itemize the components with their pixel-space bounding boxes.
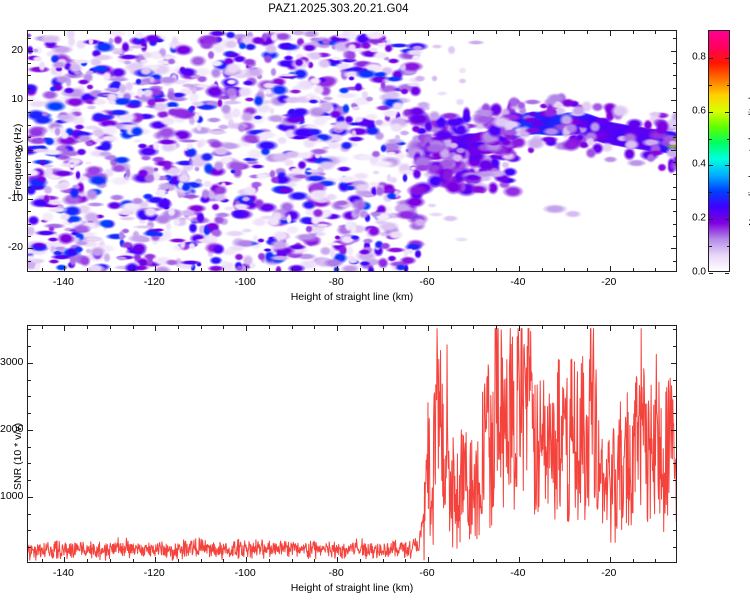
spectrogram-xtick-major-top (246, 31, 247, 36)
spectrogram-noise-blob (74, 124, 85, 130)
colorbar-tick-minor (709, 139, 712, 140)
spectrogram-noise-blob (436, 91, 448, 95)
spectrogram-onset-cloud (428, 110, 441, 122)
spectrogram-xtick-minor (178, 268, 179, 271)
spectrogram-noise-blob (458, 67, 467, 74)
spectrogram-noise-blob (79, 255, 92, 266)
spectrogram-xtick-label: -100 (235, 276, 256, 288)
spectrogram-noise-blob (207, 265, 225, 271)
spectrogram-xtick-minor-top (292, 31, 293, 34)
spectrogram-noise-blob (48, 226, 55, 231)
snr-xtick-major-top (519, 326, 520, 331)
snr-xtick-major (610, 557, 611, 562)
spectrogram-noise-blob (211, 203, 219, 211)
snr-xtick-minor (110, 559, 111, 562)
spectrogram-ytick-minor-right (673, 236, 676, 237)
snr-xtick-major (155, 557, 156, 562)
spectrogram-xtick-major-top (519, 31, 520, 36)
snr-ytick-minor-right (673, 396, 676, 397)
spectrogram-noise-blob (340, 141, 353, 150)
spectrogram-xtick-minor (542, 268, 543, 271)
spectrogram-noise-blob (181, 183, 191, 192)
spectrogram-ytick-minor (28, 261, 31, 262)
spectrogram-noise-blob (168, 107, 192, 120)
spectrogram-xtick-major-top (64, 31, 65, 36)
spectrogram-noise-blob (226, 79, 237, 86)
snr-xtick-major (337, 557, 338, 562)
snr-xtick-label: -40 (510, 567, 525, 579)
spectrogram-noise-blob (155, 198, 173, 210)
spectrogram-xtick-minor (496, 268, 497, 271)
spectrogram-noise-blob (53, 246, 66, 250)
colorbar-tick-label: 0.8 (686, 51, 706, 62)
snr-xtick-label: -80 (328, 567, 343, 579)
snr-xtick-minor-top (496, 326, 497, 329)
snr-xtick-major-top (155, 326, 156, 331)
spectrogram-noise-blob (385, 76, 404, 82)
spectrogram-noise-blob (318, 100, 334, 112)
spectrogram-noise-blob (163, 160, 172, 171)
spectrogram-xtick-minor-top (87, 31, 88, 34)
spectrogram-noise-blob (188, 242, 196, 249)
spectrogram-noise-blob (253, 115, 263, 120)
spectrogram-noise-blob (275, 265, 282, 271)
snr-ytick-minor-right (673, 530, 676, 531)
snr-ytick-major (28, 363, 33, 364)
spectrogram-noise-blob (407, 248, 414, 256)
spectrogram-noise-blob (311, 118, 329, 124)
spectrogram-noise-blob (55, 264, 68, 271)
spectrogram-noise-blob (44, 137, 55, 146)
spectrogram-noise-blob (348, 48, 369, 52)
spectrogram-noise-blob (118, 216, 137, 221)
snr-xtick-minor (42, 559, 43, 562)
spectrogram-onset-cloud (414, 164, 432, 172)
snr-xtick-minor (587, 559, 588, 562)
spectrogram-noise-blob (262, 82, 274, 89)
spectrogram-ytick-minor-right (673, 137, 676, 138)
spectrogram-noise-blob (206, 117, 222, 123)
spectrogram-noise-blob (166, 90, 177, 100)
spectrogram-panel (27, 30, 677, 272)
spectrogram-xaxis-title: Height of straight line (km) (291, 291, 414, 303)
spectrogram-noise-blob (236, 265, 243, 271)
spectrogram-xtick-major (610, 266, 611, 271)
spectrogram-noise-blob (297, 151, 315, 161)
spectrogram-ytick-minor (28, 125, 31, 126)
snr-xtick-major-top (610, 326, 611, 331)
snr-xtick-minor-top (633, 326, 634, 329)
spectrogram-noise-blob (312, 189, 328, 198)
spectrogram-noise-blob (87, 175, 110, 186)
snr-xtick-minor (133, 559, 134, 562)
spectrogram-ytick-label: 10 (0, 93, 23, 105)
snr-ytick-minor (28, 547, 31, 548)
spectrogram-noise-blob (263, 54, 273, 64)
spectrogram-onset-cloud (461, 113, 472, 124)
spectrogram-xtick-minor (383, 268, 384, 271)
spectrogram-noise-blob (335, 200, 349, 206)
spectrogram-xtick-label: -60 (419, 276, 434, 288)
colorbar-tick-minor (709, 85, 712, 86)
spectrogram-noise-blob (41, 211, 55, 223)
spectrogram-signal-cloud (603, 156, 619, 162)
spectrogram-signal-cloud (655, 119, 670, 133)
colorbar-tick-label: 0.4 (686, 159, 706, 170)
spectrogram-noise-blob (346, 245, 353, 257)
snr-ytick-minor (28, 396, 31, 397)
spectrogram-noise-blob (225, 160, 248, 172)
spectrogram-xtick-major (428, 266, 429, 271)
spectrogram-xtick-label: -140 (53, 276, 74, 288)
colorbar-tick-minor (709, 246, 712, 247)
spectrogram-noise-blob (68, 163, 76, 169)
spectrogram-noise-blob (118, 230, 125, 242)
spectrogram-xtick-minor-top (564, 31, 565, 34)
spectrogram-noise-blob (322, 96, 334, 101)
spectrogram-ytick-major (28, 150, 33, 151)
snr-xtick-minor-top (542, 326, 543, 329)
snr-ytick-major-right (671, 363, 676, 364)
snr-trace (28, 329, 676, 561)
snr-xtick-minor-top (292, 326, 293, 329)
spectrogram-noise-blob (39, 35, 62, 44)
spectrogram-noise-blob (307, 135, 320, 141)
spectrogram-noise-blob (220, 260, 229, 266)
spectrogram-noise-blob (40, 160, 47, 165)
spectrogram-ytick-major-right (671, 248, 676, 249)
colorbar-tick-label: 0.0 (686, 267, 706, 278)
spectrogram-xtick-minor (314, 268, 315, 271)
spectrogram-onset-cloud (451, 153, 464, 164)
spectrogram-noise-blob (399, 63, 406, 72)
snr-xtick-major-top (64, 326, 65, 331)
snr-line-path (28, 326, 676, 562)
snr-xtick-minor (496, 559, 497, 562)
snr-xtick-minor-top (587, 326, 588, 329)
spectrogram-ytick-minor-right (673, 112, 676, 113)
spectrogram-onset-cloud (423, 143, 447, 154)
spectrogram-noise-blob (165, 222, 172, 231)
spectrogram-noise-blob (380, 242, 391, 249)
spectrogram-ytick-major (28, 199, 33, 200)
spectrogram-noise-blob (431, 75, 438, 81)
spectrogram-noise-blob (264, 43, 278, 55)
snr-ytick-minor (28, 380, 31, 381)
spectrogram-xtick-minor-top (655, 31, 656, 34)
spectrogram-noise-blob (255, 173, 269, 180)
snr-xtick-minor-top (655, 326, 656, 329)
spectrogram-noise-blob (167, 58, 176, 64)
spectrogram-xtick-minor-top (360, 31, 361, 34)
spectrogram-noise-blob (196, 123, 202, 132)
spectrogram-noise-blob (387, 58, 401, 64)
spectrogram-noise-blob (367, 265, 376, 271)
spectrogram-ytick-minor-right (673, 125, 676, 126)
spectrogram-xtick-label: -20 (601, 276, 616, 288)
spectrogram-noise-blob (109, 194, 125, 202)
spectrogram-noise-blob (140, 155, 152, 160)
spectrogram-image (28, 31, 676, 271)
snr-ytick-major-right (671, 430, 676, 431)
spectrogram-xtick-major-top (428, 31, 429, 36)
spectrogram-noise-blob (165, 259, 178, 266)
colorbar-tick-minor (709, 192, 712, 193)
spectrogram-noise-blob (30, 258, 45, 264)
snr-xtick-minor (314, 559, 315, 562)
spectrogram-ytick-minor-right (673, 75, 676, 76)
snr-xtick-label: -100 (235, 567, 256, 579)
spectrogram-xtick-minor-top (633, 31, 634, 34)
spectrogram-noise-blob (348, 76, 355, 81)
spectrogram-xtick-minor-top (201, 31, 202, 34)
spectrogram-xtick-label: -120 (144, 276, 165, 288)
snr-ytick-minor-right (673, 346, 676, 347)
spectrogram-noise-blob (342, 103, 349, 114)
spectrogram-xtick-major (64, 266, 65, 271)
spectrogram-signal-cloud (585, 147, 597, 159)
spectrogram-noise-blob (207, 130, 227, 135)
spectrogram-noise-blob (351, 106, 361, 111)
spectrogram-noise-blob (196, 140, 203, 150)
snr-ytick-minor (28, 329, 31, 330)
spectrogram-noise-blob (171, 35, 179, 47)
spectrogram-noise-blob (282, 96, 303, 104)
spectrogram-ytick-minor-right (673, 261, 676, 262)
spectrogram-noise-blob (142, 230, 163, 237)
spectrogram-yaxis-title: Frequency (Hz) (12, 124, 24, 196)
spectrogram-xtick-minor-top (451, 31, 452, 34)
spectrogram-ytick-label: 20 (0, 44, 23, 56)
spectrogram-ytick-major-right (671, 150, 676, 151)
spectrogram-noise-blob (380, 144, 386, 154)
spectrogram-xtick-minor-top (314, 31, 315, 34)
spectrogram-noise-blob (179, 260, 201, 265)
snr-xtick-minor (360, 559, 361, 562)
spectrogram-xtick-minor-top (110, 31, 111, 34)
page-title: PAZ1.2025.303.20.21.G04 (0, 3, 677, 15)
spectrogram-noise-blob (305, 225, 313, 233)
snr-xtick-minor-top (473, 326, 474, 329)
spectrogram-noise-blob (86, 105, 97, 110)
spectrogram-noise-blob (253, 95, 264, 106)
spectrogram-ytick-minor (28, 174, 31, 175)
spectrogram-ytick-major-right (671, 100, 676, 101)
spectrogram-noise-blob (372, 170, 380, 175)
spectrogram-noise-blob (30, 148, 51, 153)
spectrogram-noise-blob (351, 129, 357, 138)
spectrogram-noise-blob (365, 96, 375, 102)
snr-xtick-minor (383, 559, 384, 562)
spectrogram-ytick-minor-right (673, 211, 676, 212)
spectrogram-xtick-minor (292, 268, 293, 271)
spectrogram-xtick-minor (633, 268, 634, 271)
spectrogram-ytick-minor (28, 187, 31, 188)
snr-xtick-minor (269, 559, 270, 562)
snr-ytick-minor-right (673, 514, 676, 515)
spectrogram-ytick-minor-right (673, 88, 676, 89)
spectrogram-noise-blob (248, 262, 257, 270)
spectrogram-xtick-minor (223, 268, 224, 271)
snr-xtick-minor (178, 559, 179, 562)
colorbar (708, 30, 730, 272)
spectrogram-noise-blob (250, 181, 263, 188)
snr-ytick-minor (28, 447, 31, 448)
snr-xtick-minor (473, 559, 474, 562)
spectrogram-noise-blob (304, 169, 323, 173)
spectrogram-noise-blob (116, 256, 129, 261)
spectrogram-ytick-minor-right (673, 174, 676, 175)
spectrogram-ytick-major (28, 248, 33, 249)
snr-ytick-minor (28, 413, 31, 414)
snr-xtick-major (64, 557, 65, 562)
spectrogram-noise-blob (350, 235, 360, 240)
spectrogram-noise-blob (405, 49, 424, 56)
spectrogram-noise-blob (142, 51, 152, 59)
spectrogram-ytick-minor (28, 137, 31, 138)
spectrogram-noise-blob (177, 67, 198, 77)
spectrogram-onset-cloud (469, 185, 488, 194)
spectrogram-signal-cloud (625, 118, 644, 129)
spectrogram-xtick-label: -40 (510, 276, 525, 288)
spectrogram-noise-blob (127, 99, 143, 107)
spectrogram-xtick-minor (42, 268, 43, 271)
spectrogram-signal-cloud (646, 153, 655, 163)
spectrogram-noise-blob (277, 42, 292, 50)
colorbar-tick (709, 273, 713, 274)
spectrogram-noise-blob (455, 98, 465, 106)
snr-ytick-minor-right (673, 463, 676, 464)
spectrogram-noise-blob (224, 40, 238, 49)
spectrogram-xtick-minor-top (587, 31, 588, 34)
spectrogram-noise-blob (224, 62, 241, 74)
spectrogram-noise-blob (308, 77, 323, 85)
snr-xtick-minor-top (133, 326, 134, 329)
spectrogram-noise-blob (225, 31, 235, 39)
spectrogram-noise-blob (251, 36, 265, 45)
spectrogram-xtick-minor (473, 268, 474, 271)
snr-ytick-minor-right (673, 547, 676, 548)
spectrogram-ytick-major-right (671, 51, 676, 52)
snr-xtick-minor-top (223, 326, 224, 329)
spectrogram-noise-blob (341, 31, 351, 39)
spectrogram-ytick-minor (28, 88, 31, 89)
spectrogram-noise-blob (107, 109, 130, 116)
colorbar-tick (709, 219, 713, 220)
snr-xtick-major (428, 557, 429, 562)
snr-xtick-minor-top (314, 326, 315, 329)
spectrogram-ytick-major (28, 100, 33, 101)
spectrogram-xtick-minor (133, 268, 134, 271)
snr-ytick-major (28, 497, 33, 498)
spectrogram-noise-blob (458, 78, 467, 84)
spectrogram-noise-blob (55, 114, 74, 119)
spectrogram-noise-blob (153, 167, 159, 172)
spectrogram-ytick-minor-right (673, 224, 676, 225)
spectrogram-noise-blob (98, 219, 113, 228)
snr-xtick-label: -20 (601, 567, 616, 579)
spectrogram-ytick-minor-right (673, 187, 676, 188)
snr-xtick-minor-top (87, 326, 88, 329)
snr-xtick-label: -60 (419, 567, 434, 579)
spectrogram-signal-cloud (591, 102, 603, 112)
spectrogram-ytick-minor-right (673, 38, 676, 39)
spectrogram-ytick-minor (28, 224, 31, 225)
colorbar-tick-minor (727, 246, 730, 247)
spectrogram-noise-blob (375, 185, 385, 196)
spectrogram-noise-blob (76, 148, 88, 157)
spectrogram-ytick-minor (28, 211, 31, 212)
spectrogram-noise-blob (69, 187, 81, 199)
spectrogram-ytick-major-right (671, 199, 676, 200)
colorbar-tick-minor (727, 192, 730, 193)
spectrogram-noise-blob (467, 40, 485, 45)
snr-ytick-major-right (671, 497, 676, 498)
spectrogram-signal-cloud (502, 120, 523, 129)
spectrogram-noise-blob (427, 203, 437, 208)
snr-xtick-minor-top (110, 326, 111, 329)
spectrogram-onset-cloud (448, 142, 460, 149)
spectrogram-noise-blob (204, 85, 225, 98)
spectrogram-xtick-minor (360, 268, 361, 271)
spectrogram-noise-blob (32, 115, 54, 125)
spectrogram-noise-blob (63, 87, 75, 93)
spectrogram-noise-blob (152, 52, 163, 60)
spectrogram-ytick-label: -20 (0, 241, 23, 253)
colorbar-tick (725, 273, 729, 274)
spectrogram-ytick-major (28, 51, 33, 52)
snr-line-chart (28, 326, 676, 562)
snr-xaxis-title: Height of straight line (km) (291, 582, 414, 594)
spectrogram-xtick-minor-top (42, 31, 43, 34)
spectrogram-noise-blob (47, 207, 68, 213)
snr-xtick-major-top (337, 326, 338, 331)
spectrogram-noise-blob (135, 78, 141, 84)
snr-xtick-minor (564, 559, 565, 562)
spectrogram-xtick-minor-top (133, 31, 134, 34)
snr-xtick-minor (223, 559, 224, 562)
snr-xtick-major (519, 557, 520, 562)
spectrogram-noise-blob (211, 193, 228, 201)
spectrogram-noise-blob (59, 131, 70, 141)
colorbar-tick-minor (727, 139, 730, 140)
spectrogram-onset-cloud (470, 145, 479, 158)
spectrogram-noise-blob (237, 123, 247, 133)
spectrogram-noise-blob (85, 70, 94, 75)
snr-xtick-minor (201, 559, 202, 562)
spectrogram-noise-blob (71, 224, 92, 234)
spectrogram-noise-blob (354, 116, 364, 123)
spectrogram-xtick-minor (405, 268, 406, 271)
spectrogram-signal-cloud (525, 137, 546, 149)
snr-xtick-minor (542, 559, 543, 562)
spectrogram-xtick-minor-top (269, 31, 270, 34)
snr-yaxis-title: SNR (10 * v/v) (12, 423, 24, 490)
spectrogram-noise-blob (377, 257, 388, 268)
spectrogram-noise-blob (210, 67, 223, 79)
spectrogram-xtick-label: -80 (328, 276, 343, 288)
snr-ytick-major (28, 430, 33, 431)
snr-xtick-minor-top (405, 326, 406, 329)
spectrogram-noise-blob (350, 223, 356, 235)
spectrogram-ytick-minor (28, 75, 31, 76)
snr-ytick-minor (28, 346, 31, 347)
spectrogram-noise-blob (302, 44, 317, 52)
snr-xtick-minor-top (383, 326, 384, 329)
snr-ytick-minor (28, 530, 31, 531)
snr-ytick-minor (28, 463, 31, 464)
colorbar-tick (709, 112, 713, 113)
